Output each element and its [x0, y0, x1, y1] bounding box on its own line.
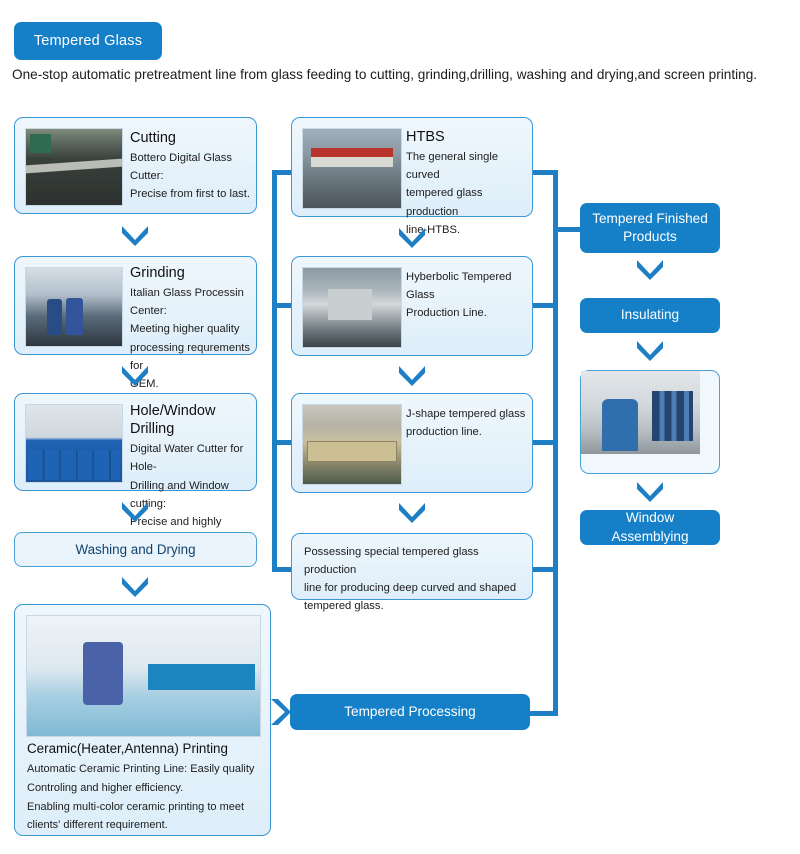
card-desc: Automatic Ceramic Printing Line: Easily … — [27, 760, 267, 836]
arrow-htbs-to-hyperbolic — [397, 226, 427, 248]
arrow-cutting-to-grinding — [120, 224, 150, 246]
card-title: HTBS — [406, 128, 528, 146]
card-title: Ceramic(Heater,Antenna) Printing — [27, 741, 267, 758]
card-desc: Bottero Digital Glass Cutter: Precise fr… — [130, 149, 252, 203]
connector-right-branch-2 — [533, 303, 558, 308]
arrow-assembling-photo-to-label — [635, 480, 665, 502]
box-tempered-processing[interactable]: Tempered Processing — [290, 694, 530, 730]
hyperbolic-photo — [302, 267, 402, 348]
box-label: Washing and Drying — [75, 542, 195, 557]
arrow-hyperbolic-to-jshape — [397, 364, 427, 386]
connector-middle-left-branch-3 — [272, 440, 292, 445]
connector-right-branch-4 — [533, 567, 558, 572]
card-hole-window-drilling[interactable]: Hole/Window Drilling Digital Water Cutte… — [14, 393, 257, 491]
tab-tempered-glass[interactable]: Tempered Glass — [14, 22, 162, 60]
box-window-assemblying[interactable]: Window Assemblying — [580, 510, 720, 545]
box-label: Insulating — [621, 306, 679, 324]
arrow-printing-to-tempered-processing — [269, 697, 291, 727]
arrow-drilling-to-washing — [120, 500, 150, 522]
htbs-photo — [302, 128, 402, 209]
arrow-grinding-to-drilling — [120, 364, 150, 386]
card-special-tempered-line[interactable]: Possessing special tempered glass produc… — [291, 533, 533, 600]
arrow-washing-to-printing — [120, 575, 150, 597]
j-shape-photo — [302, 404, 402, 485]
card-title: Cutting — [130, 129, 252, 147]
connector-middle-left-bus — [272, 172, 277, 572]
connector-right-branch-processing — [528, 711, 558, 716]
window-assembling-photo — [581, 371, 700, 454]
connector-to-finished-products — [553, 227, 581, 232]
grinding-photo — [25, 267, 123, 347]
card-hyperbolic-line[interactable]: Hyberbolic Tempered Glass Production Lin… — [291, 256, 533, 356]
card-title: Grinding — [130, 264, 260, 282]
card-htbs[interactable]: HTBS The general single curved tempered … — [291, 117, 533, 217]
card-desc: J-shape tempered glass production line. — [406, 405, 532, 441]
box-insulating[interactable]: Insulating — [580, 298, 720, 333]
cutting-photo — [25, 128, 123, 206]
drilling-photo — [25, 404, 123, 483]
card-title: Hole/Window Drilling — [130, 402, 260, 438]
card-desc: Possessing special tempered glass produc… — [304, 543, 526, 616]
card-window-assembling-photo[interactable] — [580, 370, 720, 474]
card-desc: Hyberbolic Tempered Glass Production Lin… — [406, 268, 532, 322]
box-tempered-finished-products[interactable]: Tempered Finished Products — [580, 203, 720, 253]
card-j-shape-line[interactable]: J-shape tempered glass production line. — [291, 393, 533, 493]
connector-right-branch-1 — [533, 170, 558, 175]
box-label: Window Assemblying — [588, 509, 712, 546]
ceramic-printing-photo — [26, 615, 261, 737]
connector-middle-left-branch-1 — [272, 170, 292, 175]
card-ceramic-printing[interactable]: Ceramic(Heater,Antenna) Printing Automat… — [14, 604, 271, 836]
box-label: Tempered Finished Products — [588, 210, 712, 247]
box-label: Tempered Processing — [344, 703, 475, 721]
box-washing-and-drying[interactable]: Washing and Drying — [14, 532, 257, 567]
card-grinding[interactable]: Grinding Italian Glass Processin Center:… — [14, 256, 257, 355]
card-cutting[interactable]: Cutting Bottero Digital Glass Cutter: Pr… — [14, 117, 257, 214]
connector-right-branch-3 — [533, 440, 558, 445]
connector-middle-left-branch-2 — [272, 303, 292, 308]
arrow-insulating-to-assembling-photo — [635, 339, 665, 361]
intro-text: One-stop automatic pretreatment line fro… — [12, 66, 792, 84]
arrow-finished-to-insulating — [635, 258, 665, 280]
connector-middle-left-branch-4 — [272, 567, 292, 572]
flowchart-page: Tempered Glass One-stop automatic pretre… — [0, 0, 800, 854]
arrow-jshape-to-special — [397, 501, 427, 523]
tab-label: Tempered Glass — [34, 33, 142, 49]
